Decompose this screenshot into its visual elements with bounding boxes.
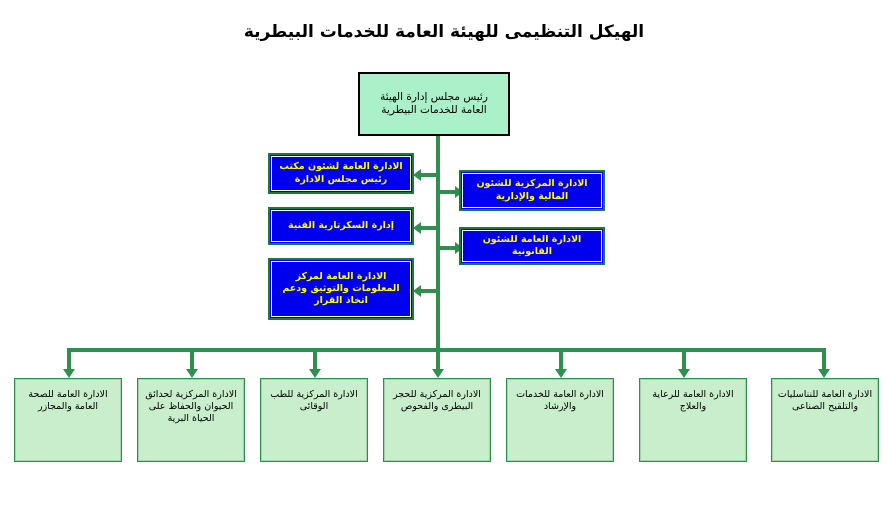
department-distribution-bar	[67, 348, 826, 352]
drop-line-dept-6	[682, 348, 686, 370]
arrow-dept-6	[678, 369, 690, 378]
branch-line-staff-right-2	[438, 246, 456, 250]
node-dept-6[interactable]: الادارة العامة للرعاية والعلاج	[639, 378, 747, 462]
node-staff-right-2[interactable]: الادارة العامة للشئون القانونية	[459, 227, 605, 265]
node-staff-left-1-label: الادارة العامة لشئون مكتب رئيس مجلس الاد…	[275, 161, 407, 185]
node-staff-left-3-label: الادارة العامة لمركز المعلومات والتوثيق …	[275, 271, 407, 307]
node-staff-right-1[interactable]: الادارة المركزية للشئون المالية والإداري…	[459, 170, 605, 211]
branch-line-staff-left-2	[421, 226, 438, 230]
branch-line-staff-left-1	[421, 173, 438, 177]
drop-line-dept-1	[67, 348, 71, 370]
branch-line-staff-right-1	[438, 190, 456, 194]
node-dept-5-label: الادارة العامة للخدمات والإرشاد	[512, 383, 608, 413]
node-staff-left-3[interactable]: الادارة العامة لمركز المعلومات والتوثيق …	[268, 258, 414, 320]
node-dept-6-label: الادارة العامة للرعاية والعلاج	[645, 383, 741, 413]
node-chairman[interactable]: رئيس مجلس إدارة الهيئة العامة للخدمات ال…	[358, 72, 510, 136]
node-staff-right-2-label: الادارة العامة للشئون القانونية	[466, 234, 598, 258]
arrow-dept-2	[186, 369, 198, 378]
node-dept-7[interactable]: الادارة العامة للنناسليات والتلقيح الصنا…	[771, 378, 879, 462]
node-staff-left-2-label: إدارة السكرتارية الفنية	[288, 220, 394, 232]
node-chairman-label: رئيس مجلس إدارة الهيئة العامة للخدمات ال…	[366, 91, 502, 118]
branch-line-staff-left-3	[421, 289, 438, 293]
node-dept-4-label: الادارة المركزية للحجر البيطرى والفحوص	[389, 383, 485, 413]
node-dept-1-label: الادارة العامة للصحة العامة والمجازر	[20, 383, 116, 413]
node-dept-2[interactable]: الادارة المركزية لحدائق الحيوان والحفاظ …	[137, 378, 245, 462]
arrow-dept-3	[309, 369, 321, 378]
drop-line-dept-2	[190, 348, 194, 370]
node-dept-1[interactable]: الادارة العامة للصحة العامة والمجازر	[14, 378, 122, 462]
drop-line-dept-5	[559, 348, 563, 370]
trunk-vertical-line	[436, 136, 440, 348]
node-dept-5[interactable]: الادارة العامة للخدمات والإرشاد	[506, 378, 614, 462]
node-staff-right-1-label: الادارة المركزية للشئون المالية والإداري…	[466, 178, 598, 202]
node-staff-left-1[interactable]: الادارة العامة لشئون مكتب رئيس مجلس الاد…	[268, 153, 414, 194]
arrow-staff-left-3	[413, 285, 421, 297]
drop-line-dept-7	[822, 348, 826, 370]
node-dept-3-label: الادارة المركزية للطب الوقائى	[266, 383, 362, 413]
drop-line-dept-3	[313, 348, 317, 370]
drop-line-dept-4	[436, 348, 440, 370]
node-dept-7-label: الادارة العامة للنناسليات والتلقيح الصنا…	[777, 383, 873, 413]
arrow-dept-1	[63, 369, 75, 378]
arrow-dept-7	[818, 369, 830, 378]
node-dept-4[interactable]: الادارة المركزية للحجر البيطرى والفحوص	[383, 378, 491, 462]
arrow-dept-5	[555, 369, 567, 378]
org-chart-canvas: الهيكل التنظيمى للهيئة العامة للخدمات ال…	[0, 0, 888, 522]
page-title: الهيكل التنظيمى للهيئة العامة للخدمات ال…	[0, 22, 888, 42]
arrow-dept-4	[432, 369, 444, 378]
arrow-staff-left-2	[413, 222, 421, 234]
arrow-staff-left-1	[413, 169, 421, 181]
node-dept-2-label: الادارة المركزية لحدائق الحيوان والحفاظ …	[143, 383, 239, 425]
node-dept-3[interactable]: الادارة المركزية للطب الوقائى	[260, 378, 368, 462]
node-staff-left-2[interactable]: إدارة السكرتارية الفنية	[268, 207, 414, 245]
